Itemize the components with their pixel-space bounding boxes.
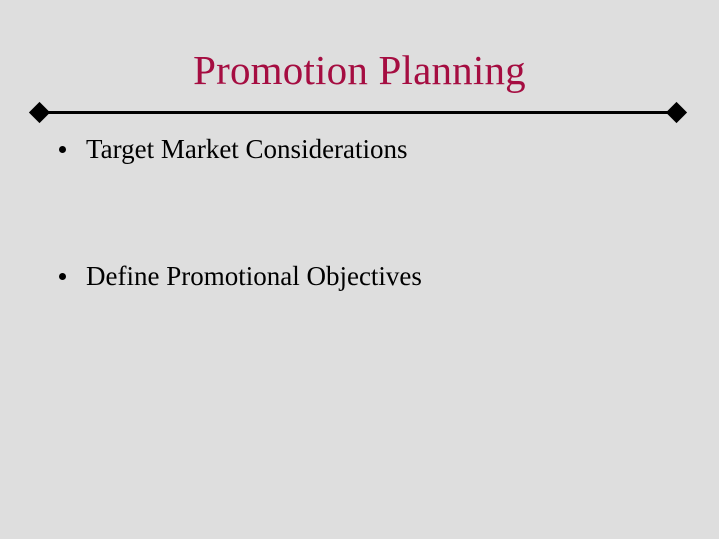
bullet-dot-icon — [59, 146, 66, 153]
diamond-right-icon — [666, 102, 687, 123]
slide-bullet-list: Target Market Considerations Define Prom… — [56, 132, 676, 386]
list-item: Target Market Considerations — [56, 132, 676, 259]
bullet-text: Define Promotional Objectives — [86, 259, 422, 293]
divider-line — [40, 111, 676, 114]
slide-title: Promotion Planning — [0, 46, 719, 94]
presentation-slide: Promotion Planning Target Market Conside… — [0, 0, 719, 539]
title-divider-rule — [31, 104, 685, 121]
list-item: Define Promotional Objectives — [56, 259, 676, 386]
bullet-text: Target Market Considerations — [86, 132, 408, 166]
bullet-dot-icon — [59, 273, 66, 280]
